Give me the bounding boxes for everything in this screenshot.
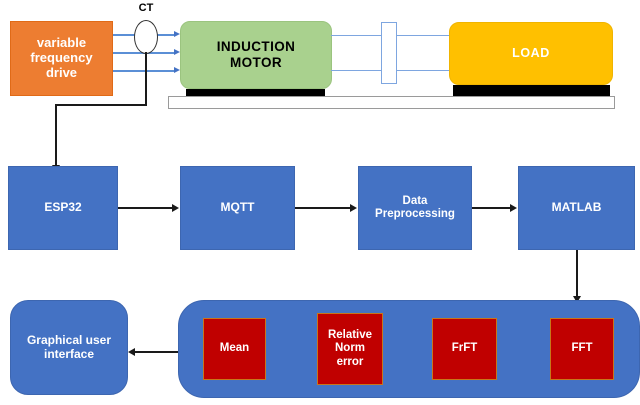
ct-wire-to-esp32-segment bbox=[55, 104, 57, 167]
current-transformer-icon bbox=[134, 20, 158, 54]
load-foot bbox=[453, 85, 610, 96]
shaft-line-upper-right bbox=[397, 35, 449, 36]
ct-wire-left-segment bbox=[55, 104, 147, 106]
connector-matlab-to-analysis bbox=[576, 250, 578, 298]
shaft-line-lower-left bbox=[331, 70, 381, 71]
analysis-method-fft[interactable]: FFT bbox=[550, 318, 614, 380]
connector-mqtt-to-preprocessing-arrowhead bbox=[350, 204, 357, 212]
connector-esp32-to-mqtt-arrowhead bbox=[172, 204, 179, 212]
pipeline-node-matlab[interactable]: MATLAB bbox=[518, 166, 635, 250]
analysis-method-mean[interactable]: Mean bbox=[203, 318, 266, 380]
shaft-line-upper-left bbox=[331, 35, 381, 36]
induction-motor-block: INDUCTION MOTOR bbox=[180, 21, 332, 89]
load-block: LOAD bbox=[449, 22, 613, 85]
shaft-line-lower-right bbox=[397, 70, 449, 71]
equipment-base-plate bbox=[168, 96, 615, 109]
graphical-user-interface-block[interactable]: Graphical user interface bbox=[10, 300, 128, 395]
ct-wire-down-segment bbox=[145, 52, 147, 105]
connector-preprocessing-to-matlab-arrowhead bbox=[510, 204, 517, 212]
pipeline-node-mqtt[interactable]: MQTT bbox=[180, 166, 295, 250]
connector-esp32-to-mqtt bbox=[118, 207, 173, 209]
coupling-block bbox=[381, 22, 397, 84]
connector-preprocessing-to-matlab bbox=[472, 207, 511, 209]
variable-frequency-drive-block: variable frequency drive bbox=[10, 21, 113, 96]
pipeline-node-esp32[interactable]: ESP32 bbox=[8, 166, 118, 250]
connector-mqtt-to-preprocessing bbox=[295, 207, 351, 209]
analysis-method-frft[interactable]: FrFT bbox=[432, 318, 497, 380]
diagram-canvas: CT variable frequency drive INDUCTION MO… bbox=[0, 0, 640, 405]
ct-label: CT bbox=[126, 1, 166, 15]
pipeline-node-data-preprocessing[interactable]: Data Preprocessing bbox=[358, 166, 472, 250]
analysis-method-relative-norm-error[interactable]: Relative Norm error bbox=[317, 313, 383, 385]
